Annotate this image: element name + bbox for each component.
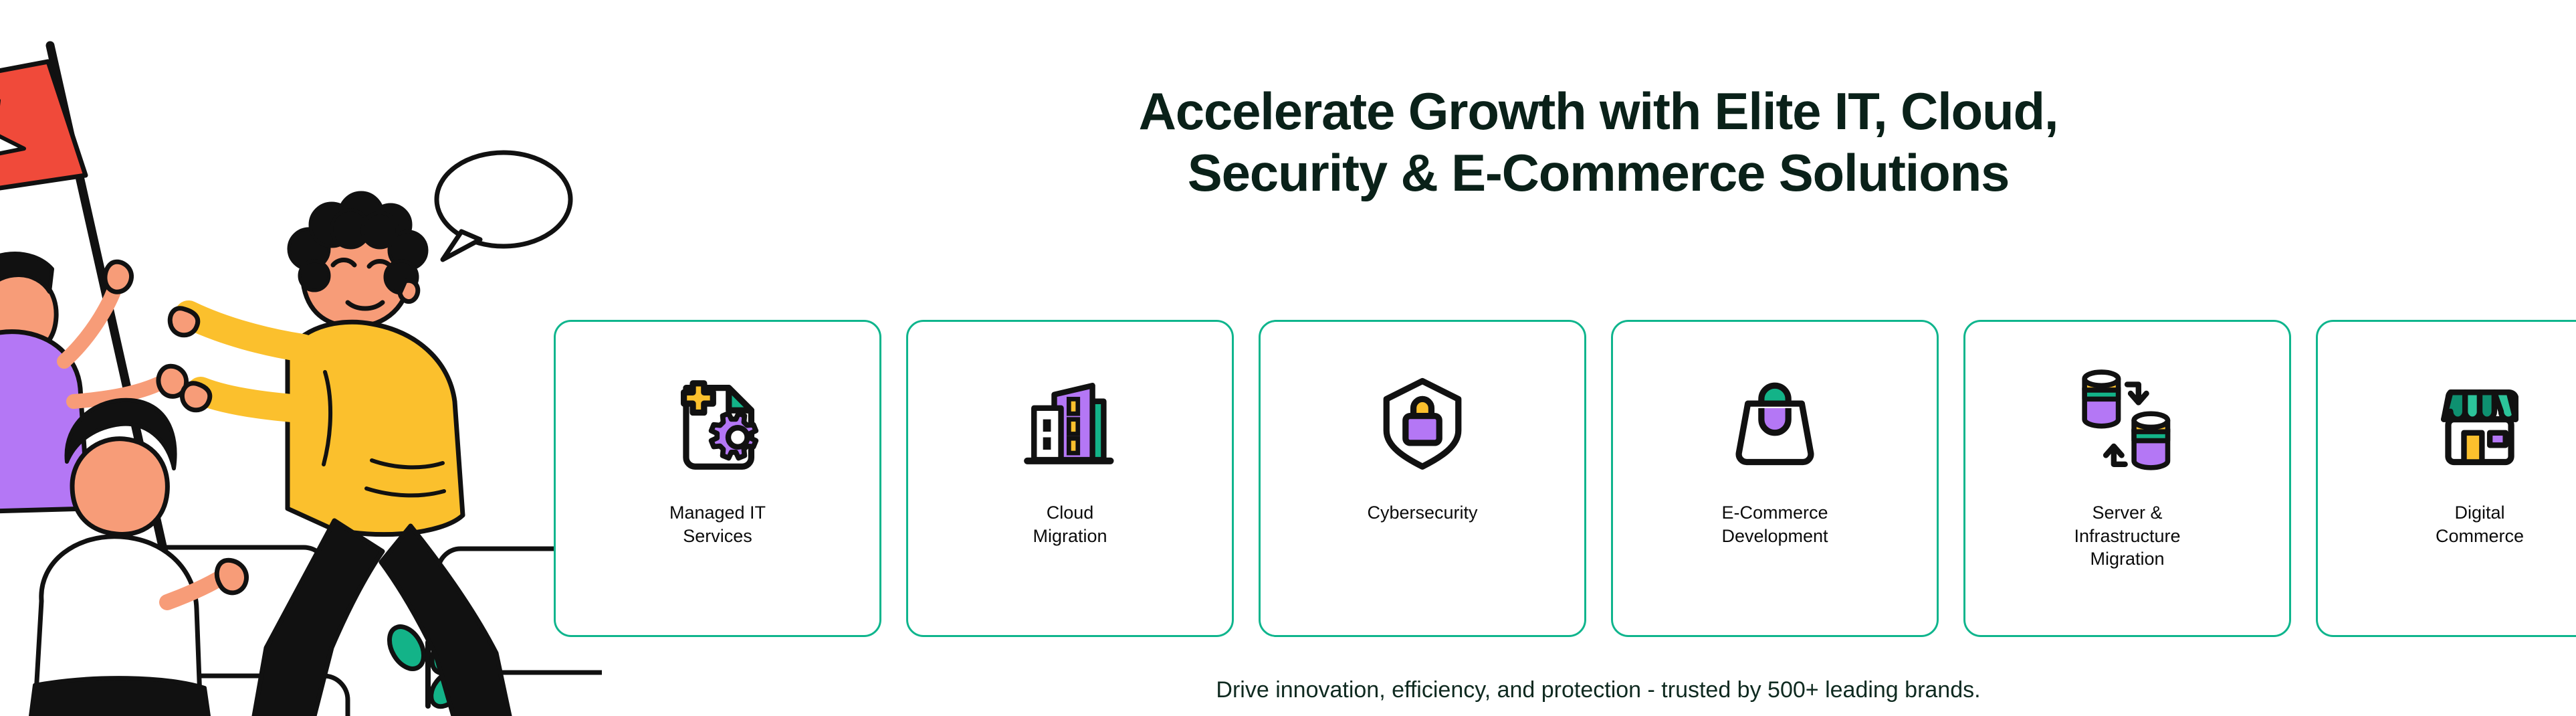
service-card-label: Digital Commerce [2424,501,2536,547]
service-card-cloud-migration[interactable]: Cloud Migration [906,320,1234,637]
service-card-label: Cloud Migration [1021,501,1119,547]
storefront-icon [2416,358,2543,485]
team-raising-flag-illustration [0,0,602,716]
service-cards-row: Managed IT Services Cloud Migration [554,320,2576,637]
red-flag [0,62,86,201]
hero-section: Accelerate Growth with Elite IT, Cloud, … [0,0,2576,716]
service-card-ecommerce-development[interactable]: E-Commerce Development [1611,320,1939,637]
document-gear-icon [654,358,781,485]
service-card-label: Server & Infrastructure Migration [2062,501,2192,571]
hero-subline: Drive innovation, efficiency, and protec… [602,677,2576,703]
speech-bubble [437,153,570,260]
database-migration-icon [2064,358,2191,485]
service-card-label: Cybersecurity [1355,501,1489,525]
buildings-icon [1006,358,1134,485]
service-card-digital-commerce[interactable]: Digital Commerce [2316,320,2576,637]
service-card-cybersecurity[interactable]: Cybersecurity [1259,320,1586,637]
shopping-bag-icon [1711,358,1838,485]
service-card-managed-it-services[interactable]: Managed IT Services [554,320,881,637]
page-title: Accelerate Growth with Elite IT, Cloud, … [602,80,2576,203]
service-card-server-infrastructure-migration[interactable]: Server & Infrastructure Migration [1963,320,2291,637]
service-card-label: Managed IT Services [657,501,778,547]
shield-lock-icon [1359,358,1486,485]
hero-heading-block: Accelerate Growth with Elite IT, Cloud, … [602,80,2576,203]
service-card-label: E-Commerce Development [1709,501,1840,547]
